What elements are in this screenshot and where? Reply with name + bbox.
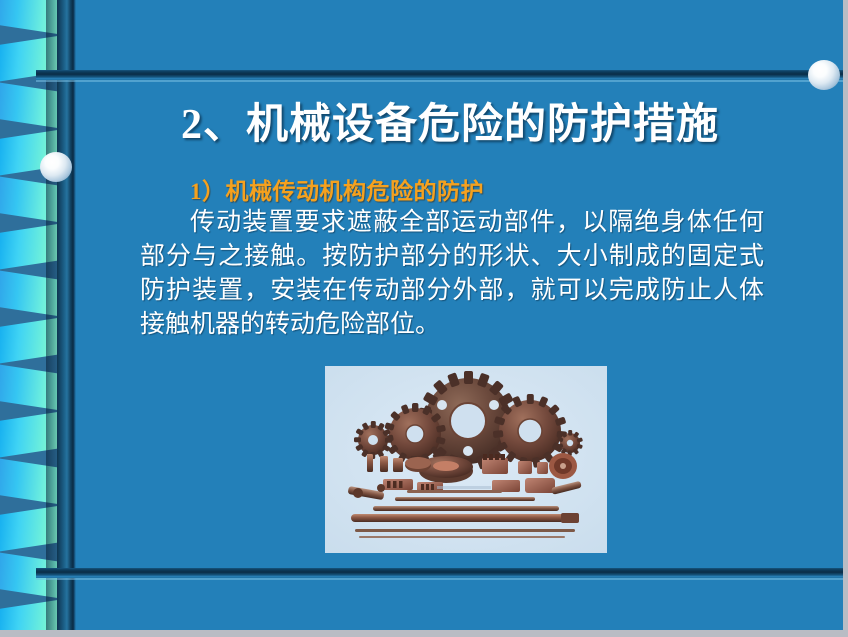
- slide-canvas: 2、机械设备危险的防护措施 1）机械传动机构危险的防护 传动装置要求遮蔽全部运动…: [0, 0, 848, 637]
- bottom-divider-rail: [36, 568, 848, 578]
- machinery-parts-illustration: [325, 366, 607, 553]
- left-ribbon-decoration: [0, 0, 60, 637]
- right-edge-strip: [843, 0, 848, 637]
- body-paragraph: 传动装置要求遮蔽全部运动部件，以隔绝身体任何部分与之接触。按防护部分的形状、大小…: [140, 206, 764, 342]
- sphere-bullet-top-right: [808, 60, 840, 90]
- pole-edge-shadow: [73, 0, 76, 637]
- vertical-pole-decoration: [57, 0, 73, 637]
- top-divider-highlight: [36, 80, 848, 82]
- section-subtitle: 1）机械传动机构危险的防护: [190, 172, 484, 206]
- machinery-parts-photo: [325, 366, 607, 553]
- page-title: 2、机械设备危险的防护措施: [100, 90, 800, 151]
- bottom-divider-highlight: [36, 578, 848, 580]
- top-divider-rail: [36, 70, 848, 80]
- bottom-edge-strip: [0, 630, 848, 637]
- sphere-bullet-left: [40, 152, 72, 182]
